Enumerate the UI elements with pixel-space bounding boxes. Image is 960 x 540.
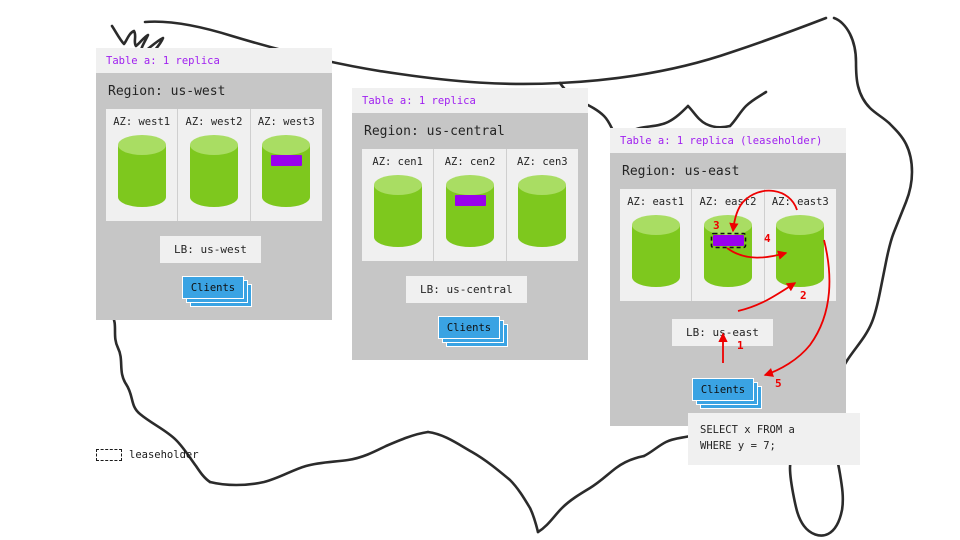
az-label-cen1: AZ: cen1 — [366, 156, 429, 168]
flow-step-number-1: 1 — [737, 339, 744, 352]
node-east2[interactable] — [696, 214, 759, 292]
clients-us-central[interactable]: Clients — [438, 316, 500, 339]
lb-us-central[interactable]: LB: us-central — [406, 276, 527, 303]
az-cell-east2[interactable]: AZ: east2 — [692, 189, 764, 301]
lb-us-east[interactable]: LB: us-east — [672, 319, 773, 346]
region-header-us-west: Table a: 1 replica — [96, 48, 332, 73]
replica-marker — [713, 235, 744, 246]
legend-label: leaseholder — [129, 449, 199, 461]
node-west3[interactable] — [255, 134, 318, 212]
region-header-us-east: Table a: 1 replica (leaseholder) — [610, 128, 846, 153]
replica-marker — [455, 195, 486, 206]
clients-us-east[interactable]: Clients — [692, 378, 754, 401]
node-cen1[interactable] — [366, 174, 429, 252]
az-row-us-east: AZ: east1 AZ: east2 — [620, 189, 836, 301]
flow-step-number-3: 3 — [713, 219, 720, 232]
region-body-us-east: Region: us-east AZ: east1 AZ: east2 — [610, 153, 846, 426]
database-cylinder-icon — [701, 214, 755, 288]
az-label-east2: AZ: east2 — [696, 196, 759, 208]
node-east1[interactable] — [624, 214, 687, 292]
az-cell-west1[interactable]: AZ: west1 — [106, 109, 178, 221]
clients-label: Clients — [438, 316, 500, 339]
database-cylinder-icon — [115, 134, 169, 208]
az-label-east3: AZ: east3 — [769, 196, 832, 208]
clients-us-west[interactable]: Clients — [182, 276, 244, 299]
node-west1[interactable] — [110, 134, 173, 212]
az-row-us-west: AZ: west1 AZ: west2 — [106, 109, 322, 221]
region-header-us-central: Table a: 1 replica — [352, 88, 588, 113]
flow-step-number-5: 5 — [775, 377, 782, 390]
lb-us-west[interactable]: LB: us-west — [160, 236, 261, 263]
flow-step-number-4: 4 — [764, 232, 771, 245]
az-cell-east1[interactable]: AZ: east1 — [620, 189, 692, 301]
database-cylinder-icon — [629, 214, 683, 288]
flow-step-number-2: 2 — [800, 289, 807, 302]
region-title-us-central: Region: us-central — [364, 124, 578, 139]
az-label-west2: AZ: west2 — [182, 116, 245, 128]
az-label-cen2: AZ: cen2 — [438, 156, 501, 168]
clients-label: Clients — [692, 378, 754, 401]
leaseholder-swatch-icon — [96, 449, 122, 461]
clients-label: Clients — [182, 276, 244, 299]
az-row-us-central: AZ: cen1 AZ: cen2 — [362, 149, 578, 261]
replica-marker — [271, 155, 302, 166]
az-cell-east3[interactable]: AZ: east3 — [765, 189, 836, 301]
az-label-east1: AZ: east1 — [624, 196, 687, 208]
region-panel-us-west: Table a: 1 replica Region: us-west AZ: w… — [96, 48, 332, 320]
az-cell-west2[interactable]: AZ: west2 — [178, 109, 250, 221]
legend: leaseholder — [96, 449, 199, 461]
node-cen3[interactable] — [511, 174, 574, 252]
region-title-us-west: Region: us-west — [108, 84, 322, 99]
database-cylinder-icon — [443, 174, 497, 248]
sql-query-box: SELECT x FROM a WHERE y = 7; — [688, 413, 860, 465]
region-body-us-west: Region: us-west AZ: west1 AZ: west2 — [96, 73, 332, 320]
database-cylinder-icon — [259, 134, 313, 208]
az-label-west3: AZ: west3 — [255, 116, 318, 128]
database-cylinder-icon — [515, 174, 569, 248]
az-cell-cen2[interactable]: AZ: cen2 — [434, 149, 506, 261]
region-panel-us-east: Table a: 1 replica (leaseholder) Region:… — [610, 128, 846, 426]
database-cylinder-icon — [773, 214, 827, 288]
region-panel-us-central: Table a: 1 replica Region: us-central AZ… — [352, 88, 588, 360]
az-cell-cen1[interactable]: AZ: cen1 — [362, 149, 434, 261]
database-cylinder-icon — [371, 174, 425, 248]
node-east3[interactable] — [769, 214, 832, 292]
az-label-cen3: AZ: cen3 — [511, 156, 574, 168]
az-cell-cen3[interactable]: AZ: cen3 — [507, 149, 578, 261]
database-cylinder-icon — [187, 134, 241, 208]
diagram-canvas: Table a: 1 replica Region: us-west AZ: w… — [0, 0, 960, 540]
node-cen2[interactable] — [438, 174, 501, 252]
az-label-west1: AZ: west1 — [110, 116, 173, 128]
az-cell-west3[interactable]: AZ: west3 — [251, 109, 322, 221]
region-body-us-central: Region: us-central AZ: cen1 AZ: cen2 — [352, 113, 588, 360]
region-title-us-east: Region: us-east — [622, 164, 836, 179]
node-west2[interactable] — [182, 134, 245, 212]
